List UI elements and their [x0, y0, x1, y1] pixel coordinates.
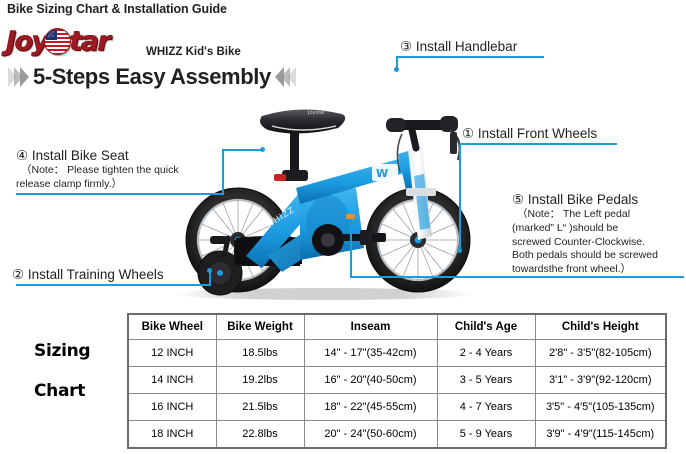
callout-5-note-line2: (marked” L“ )should be	[512, 222, 686, 236]
table-row: 16 INCH 21.5lbs 18" - 22"(45-55cm) 4 - 7…	[128, 394, 666, 421]
sizing-chart-table: Bike Wheel Bike Weight Inseam Child's Ag…	[127, 313, 667, 449]
cell-childs-height: 3'1" - 3'9"(92-120cm)	[535, 367, 666, 394]
table-row: 18 INCH 22.8lbs 20" - 24"(50-60cm) 5 - 9…	[128, 421, 666, 449]
callout-install-training-wheels: ② Install Training Wheels	[12, 266, 164, 283]
cell-bike-weight: 21.5lbs	[216, 394, 304, 421]
cell-inseam: 16" - 20"(40-50cm)	[304, 367, 437, 394]
callout-5-title: ⑤ Install Bike Pedals	[512, 191, 686, 208]
banner-text: 5-Steps Easy Assembly	[33, 66, 271, 88]
chevron-left-group-icon	[278, 67, 296, 87]
col-header-childs-height: Child's Height	[535, 314, 666, 340]
callout-1-title: ① Install Front Wheels	[462, 125, 597, 142]
callout-3-title: ③ Install Handlebar	[400, 38, 517, 55]
joystar-logo: Joy tar	[6, 26, 109, 56]
cell-childs-age: 5 - 9 Years	[437, 421, 535, 449]
cell-bike-weight: 22.8lbs	[216, 421, 304, 449]
callout-5-note-line5: towardsthe front wheel.）	[512, 263, 686, 277]
callout-4-title: ④ Install Bike Seat	[16, 147, 216, 164]
callout-4-note-line1: （Note： Please tighten the quick	[16, 164, 216, 178]
cell-bike-wheel: 18 INCH	[128, 421, 216, 449]
star-emblem-icon	[44, 28, 71, 55]
cell-bike-weight: 18.5lbs	[216, 340, 304, 367]
cell-bike-weight: 19.2lbs	[216, 367, 304, 394]
cell-inseam: 20" - 24"(50-60cm)	[304, 421, 437, 449]
callout-5-note-line3: screwed Counter-Clockwise.	[512, 236, 686, 250]
cell-inseam: 18" - 22"(45-55cm)	[304, 394, 437, 421]
callout-install-handlebar: ③ Install Handlebar	[400, 38, 517, 55]
callout-2-title: ② Install Training Wheels	[12, 266, 164, 283]
installation-guide-page: Bike Sizing Chart & Installation Guide J…	[0, 0, 686, 454]
col-header-bike-wheel: Bike Wheel	[128, 314, 216, 340]
bike-seat: Joystar	[260, 109, 345, 181]
chevron-right-group-icon	[8, 67, 26, 87]
table-row: 12 INCH 18.5lbs 14" - 17"(35-42cm) 2 - 4…	[128, 340, 666, 367]
assembly-banner: 5-Steps Easy Assembly	[8, 66, 296, 88]
table-row: 14 INCH 19.2lbs 16" - 20"(40-50cm) 3 - 5…	[128, 367, 666, 394]
callout-5-note-line1: （Note： The Left pedal	[512, 208, 686, 222]
sizing-label-line1: Sizing	[34, 341, 90, 361]
table-header-row: Bike Wheel Bike Weight Inseam Child's Ag…	[128, 314, 666, 340]
cell-bike-wheel: 12 INCH	[128, 340, 216, 367]
product-name: WHIZZ Kid's Bike	[146, 46, 241, 58]
cell-childs-age: 4 - 7 Years	[437, 394, 535, 421]
callout-5-note-line4: Both pedals should be screwed	[512, 249, 686, 263]
col-header-inseam: Inseam	[304, 314, 437, 340]
cell-childs-height: 3'9" - 4'9"(115-145cm)	[535, 421, 666, 449]
cell-bike-wheel: 14 INCH	[128, 367, 216, 394]
cell-childs-height: 2'8" - 3'5"(82-105cm)	[535, 340, 666, 367]
callout-4-note-line2: release clamp firmly.）	[16, 178, 216, 192]
svg-text:W: W	[376, 167, 388, 180]
col-header-bike-weight: Bike Weight	[216, 314, 304, 340]
leader-line-handlebar	[396, 56, 546, 72]
cell-childs-height: 3'5" - 4'5"(105-135cm)	[535, 394, 666, 421]
logo-text-joy: Joy	[6, 28, 47, 55]
col-header-childs-age: Child's Age	[437, 314, 535, 340]
callout-install-bike-seat: ④ Install Bike Seat （Note： Please tighte…	[16, 147, 216, 192]
svg-text:Joystar: Joystar	[307, 110, 326, 116]
cell-bike-wheel: 16 INCH	[128, 394, 216, 421]
page-title: Bike Sizing Chart & Installation Guide	[7, 2, 227, 16]
callout-install-bike-pedals: ⑤ Install Bike Pedals （Note： The Left pe…	[512, 191, 686, 276]
cell-inseam: 14" - 17"(35-42cm)	[304, 340, 437, 367]
cell-childs-age: 2 - 4 Years	[437, 340, 535, 367]
callout-install-front-wheels: ① Install Front Wheels	[462, 125, 597, 142]
cell-childs-age: 3 - 5 Years	[437, 367, 535, 394]
logo-text-tar: tar	[69, 28, 109, 55]
sizing-label-line2: Chart	[34, 381, 85, 401]
bike-illustration: WHIZZ W Joystar	[150, 88, 500, 303]
